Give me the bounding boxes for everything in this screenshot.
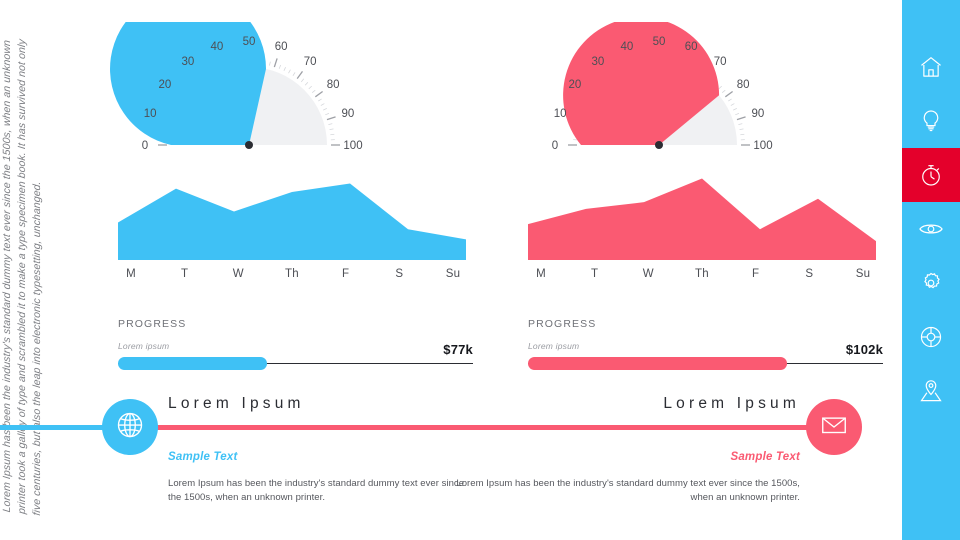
axis-tick-label: T <box>172 268 198 280</box>
footer-sample-text: Sample Text <box>440 451 800 463</box>
gauge-red-svg: 0102030405060708090100 <box>518 22 908 157</box>
svg-text:0: 0 <box>142 140 148 152</box>
gauge-red: 0102030405060708090100 <box>518 22 908 157</box>
svg-text:90: 90 <box>752 108 765 120</box>
area-chart-red-svg <box>528 168 876 260</box>
footer-body: Lorem Ipsum has been the industry's stan… <box>440 477 800 504</box>
lightbulb-icon <box>918 108 944 134</box>
progress-title: PROGRESS <box>528 318 883 330</box>
svg-text:90: 90 <box>342 108 355 120</box>
axis-tick-label: S <box>386 268 412 280</box>
axis-tick-label: Th <box>279 268 305 280</box>
globe-icon <box>115 410 145 445</box>
axis-tick-label: W <box>635 268 661 280</box>
svg-text:100: 100 <box>753 140 772 152</box>
svg-text:70: 70 <box>304 56 317 68</box>
sidebar-item-home[interactable] <box>902 40 960 94</box>
svg-text:30: 30 <box>591 56 604 68</box>
sidebar-item-settings[interactable] <box>902 256 960 310</box>
progress-value: $102k <box>846 342 883 357</box>
axis-tick-label: Th <box>689 268 715 280</box>
slide-canvas: Lorem Ipsum has been the industry's stan… <box>0 0 960 540</box>
gear-icon <box>918 270 944 296</box>
svg-text:80: 80 <box>327 79 340 91</box>
svg-text:40: 40 <box>620 41 633 53</box>
progress-bar-red[interactable]: $102k <box>528 354 883 376</box>
sidebar-item-support[interactable] <box>902 310 960 364</box>
svg-text:10: 10 <box>144 108 157 120</box>
area-chart-red-axis: MTWThFSSu <box>528 268 876 280</box>
svg-text:20: 20 <box>568 79 581 91</box>
axis-tick-label: W <box>225 268 251 280</box>
progress-subtitle: Lorem ipsum <box>528 341 883 351</box>
footer-left: Lorem Ipsum Sample Text Lorem Ipsum has … <box>168 395 468 504</box>
progress-value: $77k <box>443 342 473 357</box>
gauge-blue-svg: 0102030405060708090100 <box>108 22 498 157</box>
axis-tick-label: F <box>743 268 769 280</box>
svg-text:30: 30 <box>181 56 194 68</box>
footer-title: Lorem Ipsum <box>168 395 468 413</box>
side-note-text: Lorem Ipsum has been the industry's stan… <box>0 24 45 517</box>
location-pin-icon <box>918 378 944 404</box>
progress-block-red: PROGRESS Lorem ipsum $102k <box>528 318 883 376</box>
svg-text:80: 80 <box>737 79 750 91</box>
home-icon <box>918 54 944 80</box>
footer-title: Lorem Ipsum <box>440 395 800 413</box>
svg-text:70: 70 <box>714 56 727 68</box>
sidebar-item-timer[interactable] <box>902 148 960 202</box>
axis-tick-label: T <box>582 268 608 280</box>
progress-block-blue: PROGRESS Lorem ipsum $77k <box>118 318 473 376</box>
envelope-icon <box>819 410 849 445</box>
svg-text:60: 60 <box>685 41 698 53</box>
svg-text:50: 50 <box>243 36 256 48</box>
area-chart-blue-svg <box>118 168 466 260</box>
eye-icon <box>918 216 944 242</box>
gauge-blue: 0102030405060708090100 <box>108 22 498 157</box>
envelope-badge[interactable] <box>806 399 862 455</box>
axis-tick-label: M <box>528 268 554 280</box>
axis-tick-label: Su <box>440 268 466 280</box>
progress-title: PROGRESS <box>118 318 473 330</box>
svg-text:0: 0 <box>552 140 558 152</box>
globe-badge[interactable] <box>102 399 158 455</box>
axis-tick-label: M <box>118 268 144 280</box>
footer-sample-text: Sample Text <box>168 451 468 463</box>
area-chart-blue-axis: MTWThFSSu <box>118 268 466 280</box>
sidebar-item-views[interactable] <box>902 202 960 256</box>
axis-tick-label: Su <box>850 268 876 280</box>
side-note: Lorem Ipsum has been the industry's stan… <box>0 0 86 540</box>
area-chart-red <box>528 168 876 260</box>
area-chart-blue <box>118 168 466 260</box>
svg-text:60: 60 <box>275 41 288 53</box>
svg-text:10: 10 <box>554 108 567 120</box>
stopwatch-icon <box>918 162 944 188</box>
svg-text:20: 20 <box>158 79 171 91</box>
footer-right: Lorem Ipsum Sample Text Lorem Ipsum has … <box>440 395 800 504</box>
axis-tick-label: S <box>796 268 822 280</box>
axis-tick-label: F <box>333 268 359 280</box>
sidebar <box>902 0 960 540</box>
progress-bar-blue[interactable]: $77k <box>118 354 473 376</box>
svg-text:50: 50 <box>653 36 666 48</box>
svg-text:40: 40 <box>210 41 223 53</box>
progress-fill <box>118 357 267 370</box>
progress-subtitle: Lorem ipsum <box>118 341 473 351</box>
svg-text:100: 100 <box>343 140 362 152</box>
footer-body: Lorem Ipsum has been the industry's stan… <box>168 477 468 504</box>
progress-fill <box>528 357 787 370</box>
sidebar-item-ideas[interactable] <box>902 94 960 148</box>
sidebar-item-location[interactable] <box>902 364 960 418</box>
lifebuoy-icon <box>918 324 944 350</box>
